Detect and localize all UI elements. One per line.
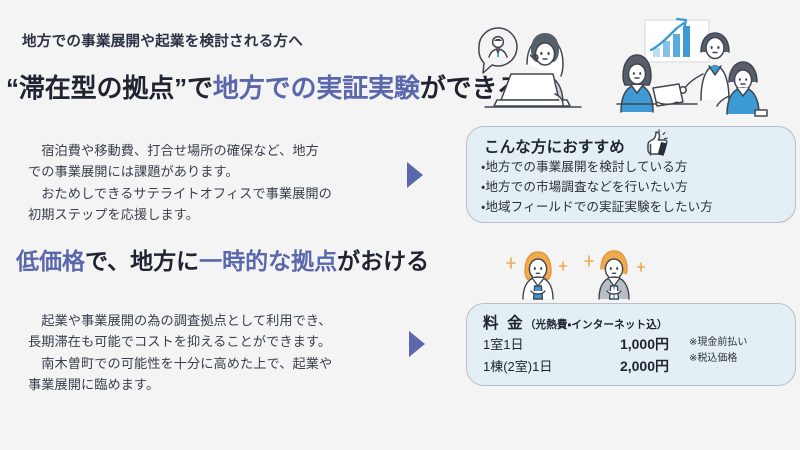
list-item: ・地方での市場調査などを行いたい方	[481, 178, 713, 198]
left-content-column: 地方での事業展開や起業を検討される方へ “滞在型の拠点”で地方での実証実験ができ…	[0, 0, 455, 450]
slide-root: 地方での事業展開や起業を検討される方へ “滞在型の拠点”で地方での実証実験ができ…	[0, 0, 800, 450]
triangle-arrow-icon-bottom	[409, 331, 425, 357]
list-item: ・地方での事業展開を検討している方	[481, 158, 713, 178]
price-title-main: 料 金	[483, 315, 525, 332]
headline-secondary-accent2: 一時的な拠点	[199, 248, 337, 274]
price-row-label: 1室1日	[483, 334, 591, 356]
recommendation-box-title: こんな方におすすめ	[484, 135, 625, 157]
recommendation-bullet-list: ・地方での事業展開を検討している方 ・地方での市場調査などを行いたい方 ・地域フ…	[481, 158, 713, 218]
two-smiling-people-illustration	[485, 243, 675, 301]
right-content-column: こんな方におすすめ ・地方での事業展開を検討している方 ・地方での市場調査などを…	[455, 0, 800, 450]
table-row: 1室1日 1,000円	[483, 334, 669, 356]
headline-primary: “滞在型の拠点”で地方での実証実験ができる	[6, 74, 523, 103]
price-notes: ※現金前払い ※税込価格	[689, 335, 747, 367]
headline-primary-accent: 地方での実証実験	[213, 73, 420, 103]
table-row: 1棟(2室)1日 2,000円	[483, 356, 669, 378]
price-note: ※税込価格	[689, 351, 747, 367]
price-note: ※現金前払い	[689, 335, 747, 351]
price-box-title: 料 金（光熱費・インターネット込）	[483, 311, 668, 333]
price-row-amount: 2,000円	[591, 356, 669, 378]
price-box: 料 金（光熱費・インターネット込） 1室1日 1,000円 1棟(2室)1日 2…	[466, 303, 796, 386]
headline-secondary-accent1: 低価格	[16, 248, 85, 274]
body-paragraph-2: 起業や事業展開の為の調査拠点として利用でき、 長期滞在も可能でコストを抑えること…	[28, 310, 418, 396]
price-table: 1室1日 1,000円 1棟(2室)1日 2,000円	[483, 334, 669, 378]
body-paragraph-1: 宿泊費や移動費、打合せ場所の確保など、地方 での事業展開には課題があります。 お…	[28, 140, 418, 226]
price-row-label: 1棟(2室)1日	[483, 356, 591, 378]
list-item: ・地域フィールドでの実証実験をしたい方	[481, 198, 713, 218]
price-title-sub: （光熱費・インターネット込）	[525, 319, 668, 331]
headline-secondary-part2: がおける	[337, 248, 429, 274]
online-meeting-illustration	[467, 12, 797, 117]
headline-secondary-part1: で、地方に	[85, 248, 199, 274]
recommendation-box: こんな方におすすめ ・地方での事業展開を検討している方 ・地方での市場調査などを…	[466, 126, 796, 223]
triangle-arrow-icon-top	[407, 162, 423, 188]
headline-secondary: 低価格で、地方に一時的な拠点がおける	[16, 249, 429, 274]
price-row-amount: 1,000円	[591, 334, 669, 356]
headline-primary-part1: “滞在型の拠点”で	[6, 73, 213, 103]
eyebrow-text: 地方での事業展開や起業を検討される方へ	[22, 30, 303, 51]
